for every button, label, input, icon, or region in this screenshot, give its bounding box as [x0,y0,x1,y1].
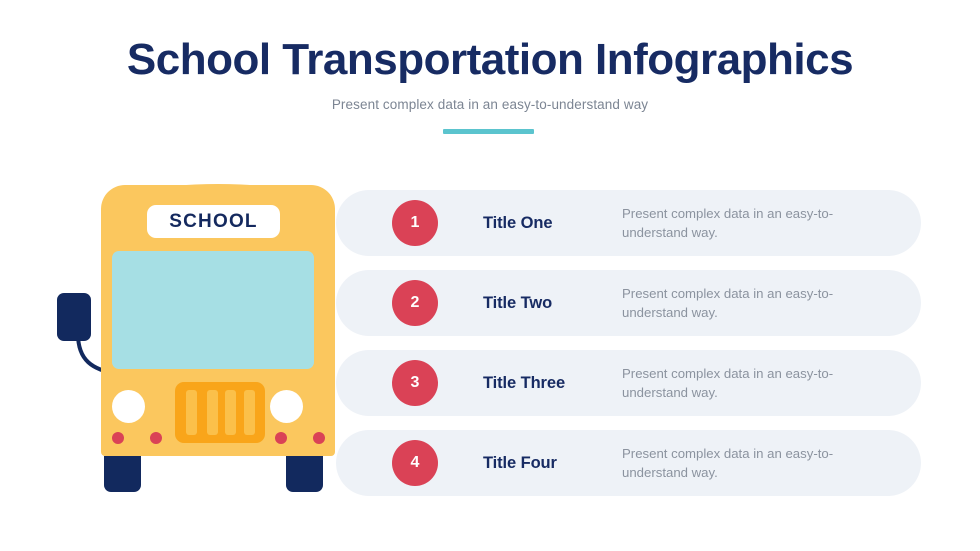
step-badge: 3 [392,360,438,406]
list-item[interactable]: 4 Title Four Present complex data in an … [336,430,921,496]
list-item-description: Present complex data in an easy-to-under… [622,430,892,496]
list-item[interactable]: 2 Title Two Present complex data in an e… [336,270,921,336]
list-item-description: Present complex data in an easy-to-under… [622,270,892,336]
bus-school-sign: SCHOOL [147,205,280,238]
title-divider [443,129,534,134]
step-badge: 1 [392,200,438,246]
list-item-title: Title One [483,190,552,256]
page-title: School Transportation Infographics [0,36,980,84]
step-badge: 2 [392,280,438,326]
bus-windshield [112,251,314,369]
bus-marker-light [313,432,325,444]
bus-marker-light [275,432,287,444]
bus-grille [175,382,265,443]
list-item-description: Present complex data in an easy-to-under… [622,350,892,416]
bus-grille-slat [207,390,218,435]
list-item[interactable]: 1 Title One Present complex data in an e… [336,190,921,256]
bus-headlight-left [112,390,145,423]
list-item-title: Title Two [483,270,552,336]
list-item-title: Title Four [483,430,557,496]
bus-marker-light [112,432,124,444]
bus-mirror-icon [57,293,91,341]
bus-grille-slat [186,390,197,435]
bus-wheel-right [286,456,323,492]
list-item[interactable]: 3 Title Three Present complex data in an… [336,350,921,416]
list-item-title: Title Three [483,350,565,416]
school-bus-illustration: SCHOOL [50,185,350,500]
infographic-slide: School Transportation Infographics Prese… [0,0,980,551]
bus-wheel-left [104,456,141,492]
header: School Transportation Infographics Prese… [0,36,980,112]
page-subtitle: Present complex data in an easy-to-under… [0,97,980,112]
bus-marker-light [150,432,162,444]
bus-grille-slat [225,390,236,435]
step-badge: 4 [392,440,438,486]
bus-headlight-right [270,390,303,423]
bus-grille-slat [244,390,255,435]
list-item-description: Present complex data in an easy-to-under… [622,190,892,256]
bus-school-sign-label: SCHOOL [169,211,257,233]
